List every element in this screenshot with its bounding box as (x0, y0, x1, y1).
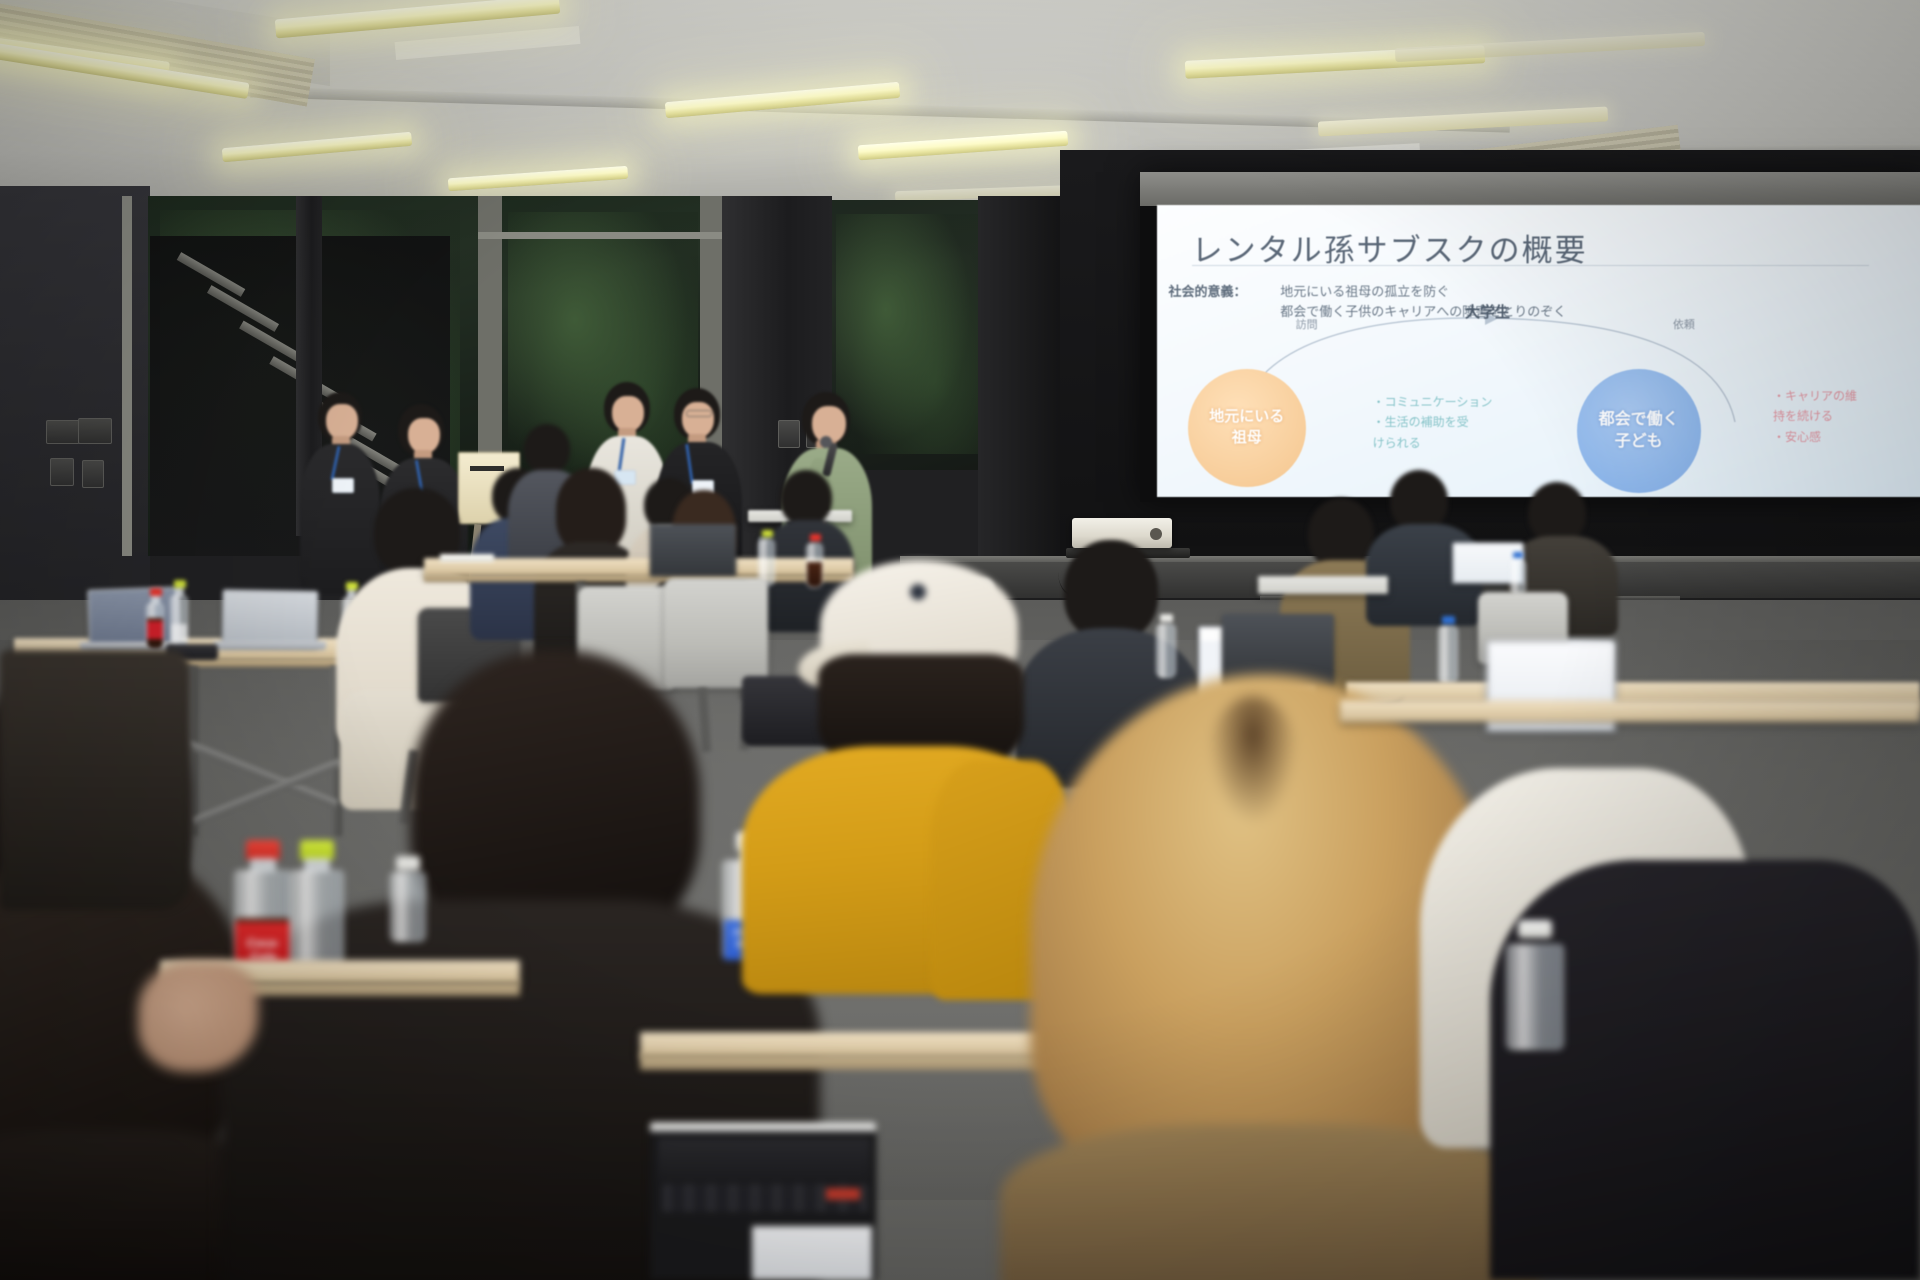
grey1-head (524, 424, 570, 474)
slide-left-circle: 地元にいる 祖母 (1188, 369, 1306, 487)
slide-mid-bullet-1: ・コミュニケーション (1373, 392, 1493, 412)
fg-right-body (1506, 944, 1564, 1050)
laptop-left-2[interactable] (222, 589, 319, 647)
slide-top-node-label: 大学生 (1465, 301, 1510, 322)
wall-switch-panel-4 (82, 460, 104, 488)
papers-mid (440, 554, 494, 562)
slide-right-arc-label: 依頼 (1673, 316, 1695, 332)
foreground-table-right (1340, 700, 1920, 722)
cola-fg-cap (246, 840, 280, 860)
bottle-cap-right-mid (1160, 614, 1173, 622)
slide-right-bullet-2: 持を続ける (1773, 406, 1857, 426)
presentation-slide: レンタル孫サブスクの概要 社会的意義： 地元にいる祖母の孤立を防ぐ 都会で働く子… (1157, 205, 1920, 497)
bottle-body-right-far (1510, 560, 1526, 596)
window-header (478, 232, 724, 239)
slide-title-divider (1192, 265, 1870, 266)
slide-right-circle-label: 都会で働く 子ども (1599, 409, 1679, 452)
wall-switch-panel-2 (78, 418, 112, 444)
slide-right-bullet-1: ・キャリアの維 (1773, 386, 1857, 406)
slide-mid-bullet-2: ・生活の補助を受 (1373, 412, 1493, 432)
water-cap-mid (762, 530, 773, 537)
small-bottle-foreground (390, 856, 426, 942)
foreground-hand (138, 962, 258, 1072)
slide-title: レンタル孫サブスクの概要 (1192, 225, 1588, 270)
bottle-cap-right-far (1513, 552, 1523, 558)
slide-left-arc-label: 訪問 (1296, 316, 1318, 332)
microphone-head (820, 436, 832, 448)
foreground-laptop-toolbar (658, 1138, 870, 1182)
presenter-3-face (612, 396, 644, 432)
slide-section-label: 社会的意義： (1169, 281, 1247, 300)
slide-line-1: 地元にいる祖母の孤立を防ぐ (1280, 281, 1449, 300)
slide-right-bullets: ・キャリアの維 持を続ける ・安心感 (1773, 386, 1857, 447)
laptop-mid[interactable] (650, 524, 736, 576)
cola-cap-mid (810, 534, 821, 541)
foreground-laptop-document (752, 1226, 872, 1280)
presenter-4-face (682, 402, 714, 438)
water-bottle-right-mid (1156, 614, 1176, 678)
window-mullion (122, 196, 132, 556)
foreground-laptop-accent (826, 1188, 860, 1200)
bottle-body-right-mid (1156, 624, 1176, 678)
right3-head (1528, 482, 1586, 544)
wall-switch-panel-3 (50, 458, 74, 486)
slide-right-bullet-3: ・安心感 (1773, 427, 1857, 447)
laptop-left-2-display (224, 591, 317, 645)
bottle-cap-right-mid-2 (1442, 616, 1455, 624)
right-table-1 (1258, 576, 1388, 594)
water-bottle-foreground-right (1506, 920, 1564, 1050)
foreground-laptop-left[interactable] (88, 590, 184, 648)
conference-room-photo: レンタル孫サブスクの概要 社会的意義： 地元にいる祖母の孤立を防ぐ 都会で働く子… (0, 0, 1920, 1280)
wall-switch-panel-1 (46, 420, 80, 444)
projector-lens (1150, 528, 1162, 540)
water-fg-body (290, 870, 344, 966)
blonde-hair-part (1208, 696, 1298, 826)
laptop-left-2-base (214, 641, 326, 650)
foreground-laptop-open[interactable] (650, 1122, 876, 1280)
slide-mid-bullet-3: けられる (1373, 433, 1493, 453)
coca-cola-bottle-foreground: Coca-Cola (234, 840, 292, 972)
structural-column-stage (978, 196, 1064, 596)
water-fg-cap (300, 840, 334, 860)
screen-top-bar (1140, 172, 1920, 206)
slide-left-circle-label: 地元にいる 祖母 (1209, 407, 1284, 448)
slide-right-circle: 都会で働く 子ども (1577, 369, 1701, 493)
presenter-1-face (326, 404, 358, 440)
small-fg-cap (396, 856, 420, 870)
foreground-table-center-edge (640, 1054, 1060, 1070)
water-bottle-right-far (1510, 552, 1526, 596)
knit-head (1064, 540, 1158, 640)
white-cap-button (910, 584, 926, 600)
presenter-4-glasses (686, 410, 712, 417)
fg-right-cap (1518, 920, 1552, 938)
darkjkt-head (780, 470, 832, 526)
cola-label-text: Coca-Cola (235, 922, 291, 964)
coat-on-chair (0, 650, 190, 910)
slide-middle-bullets: ・コミュニケーション ・生活の補助を受 けられる (1373, 392, 1493, 453)
small-fg-body (390, 872, 426, 942)
right2-head (1390, 470, 1448, 532)
water-bottle-foreground (290, 840, 344, 966)
water-cap (174, 580, 186, 588)
presenter-2-face (408, 418, 440, 454)
